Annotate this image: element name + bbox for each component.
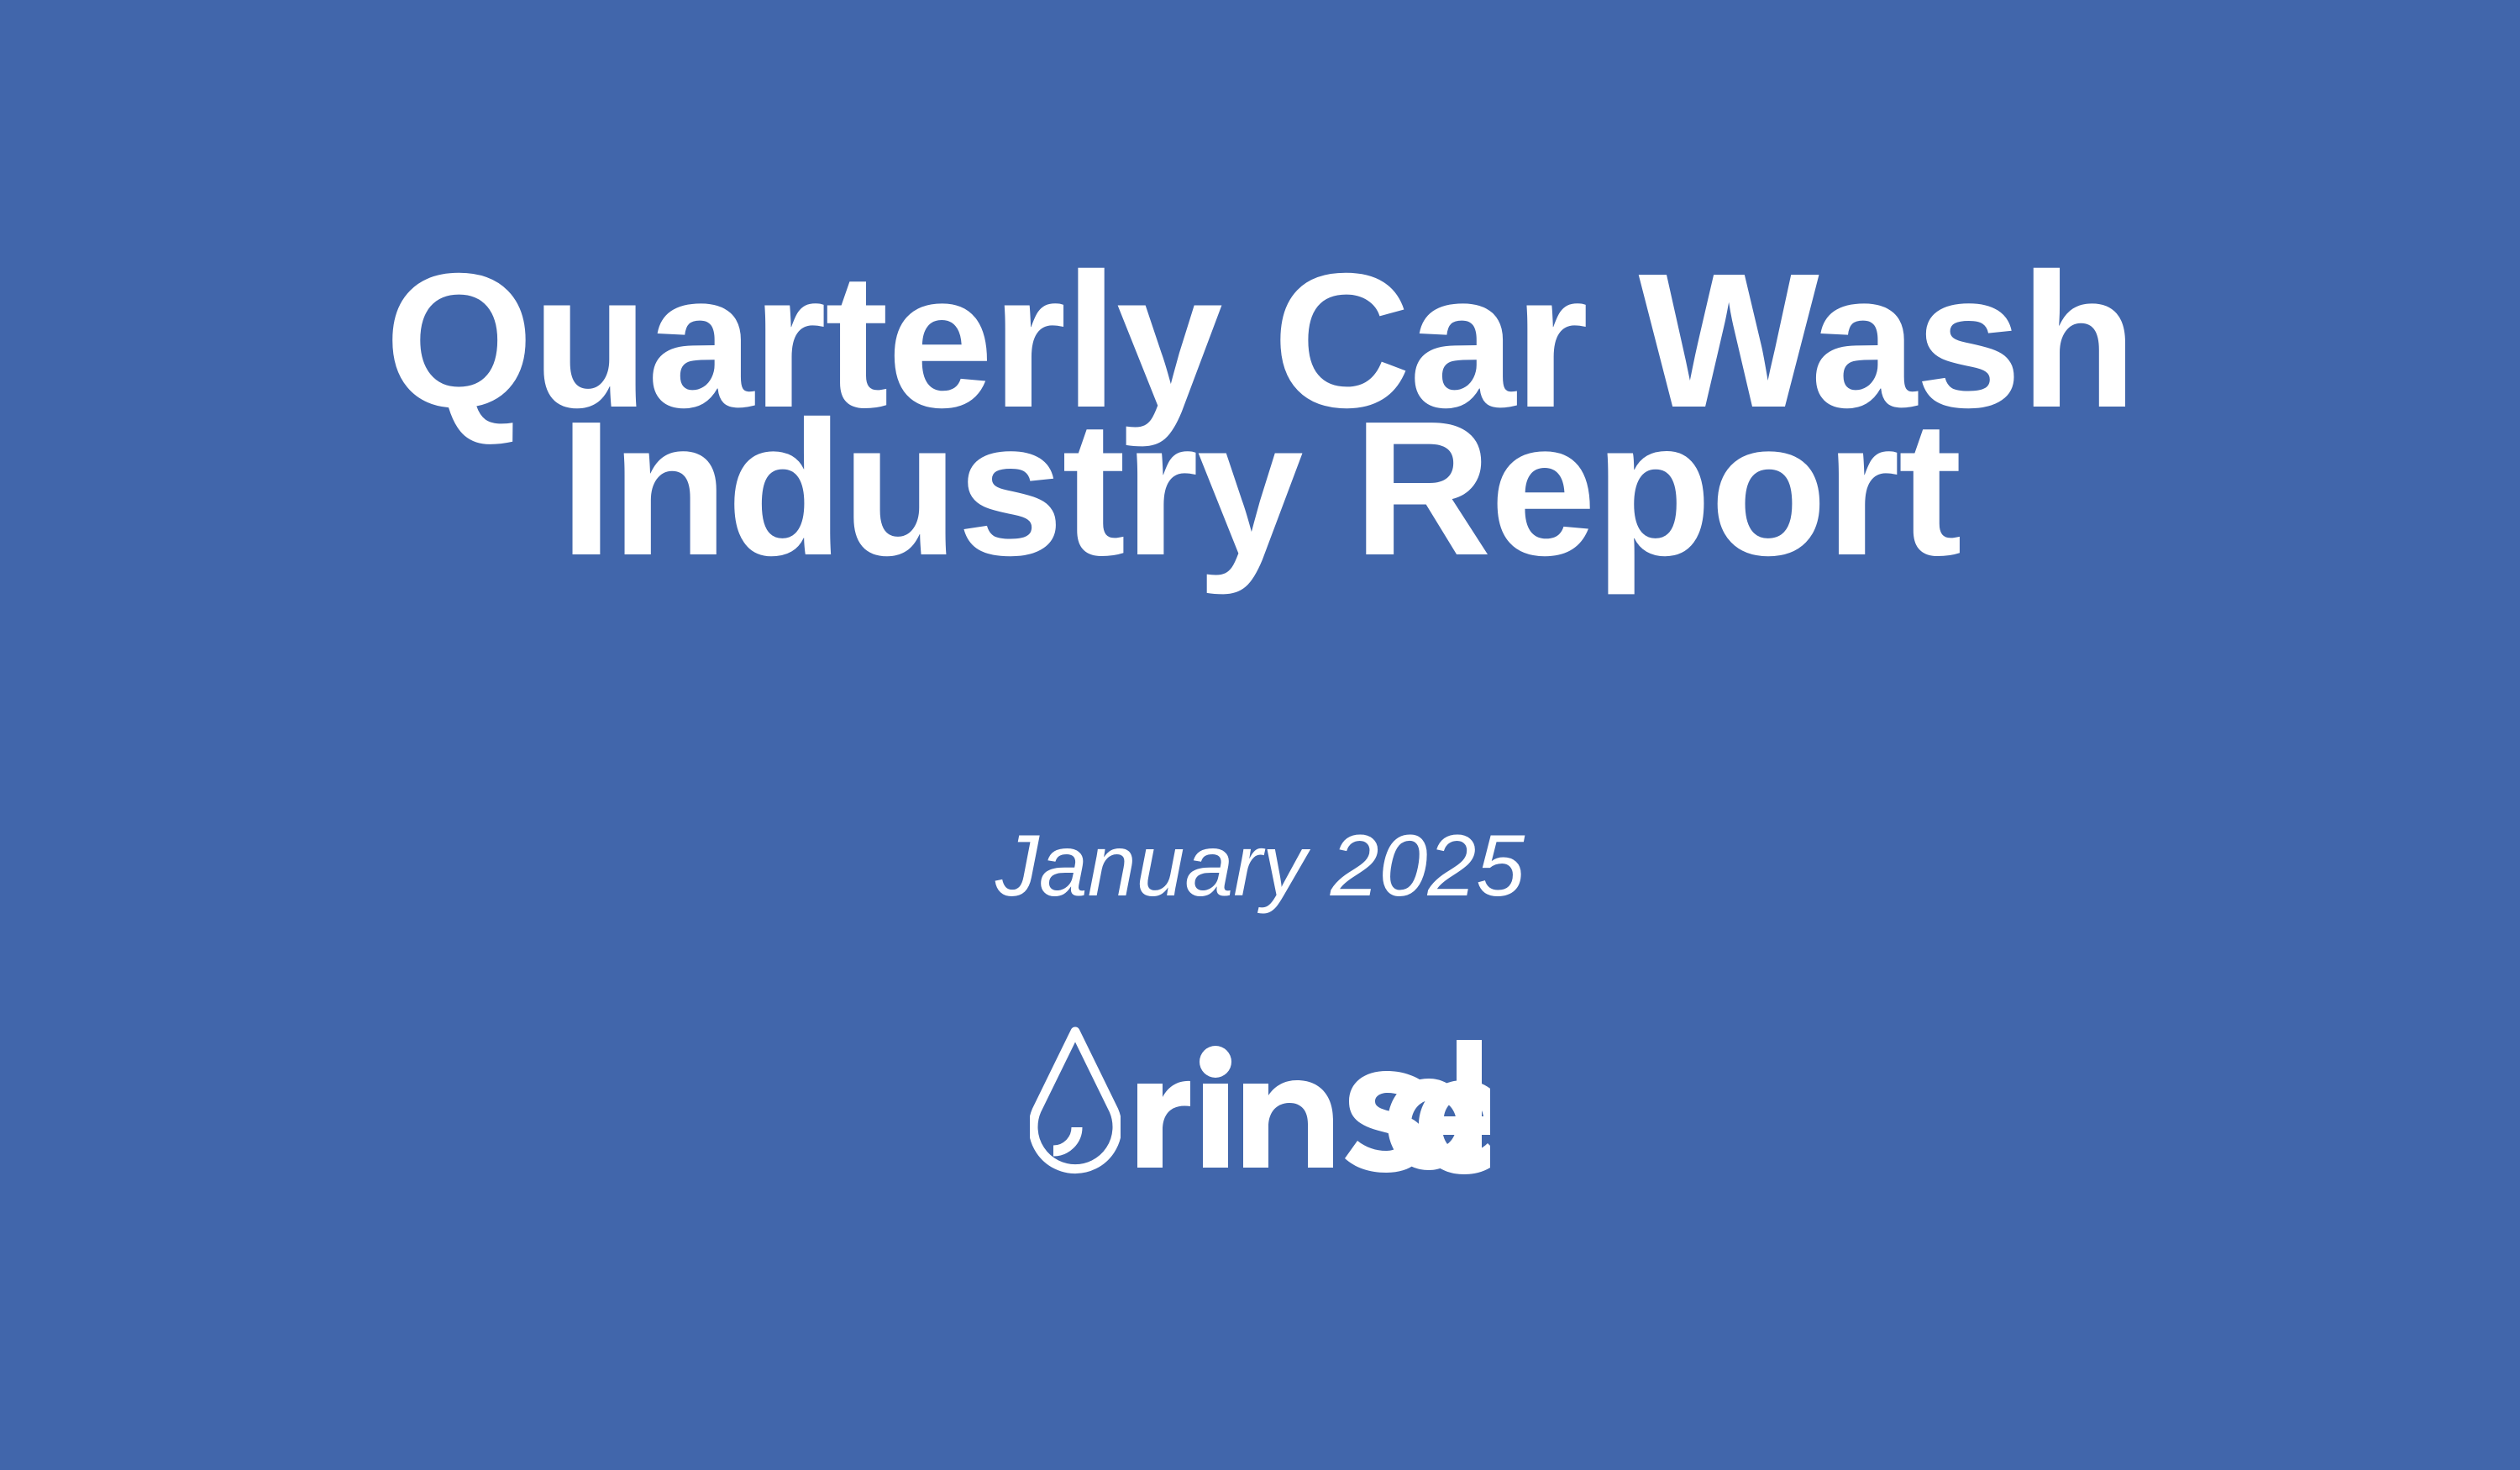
subtitle-container: January 2025 [0,819,2520,913]
page-title: Quarterly Car Wash Industry Report [0,267,2520,563]
report-date-subtitle: January 2025 [995,819,1525,913]
water-droplet-icon [1030,1023,1121,1188]
title-slide: Quarterly Car Wash Industry Report Janua… [0,0,2520,1470]
rinsed-logo [1030,1020,1490,1188]
title-line-2: Industry Report [0,415,2520,563]
brand-logo-container [0,1020,2520,1188]
rinsed-wordmark [1129,1023,1490,1188]
